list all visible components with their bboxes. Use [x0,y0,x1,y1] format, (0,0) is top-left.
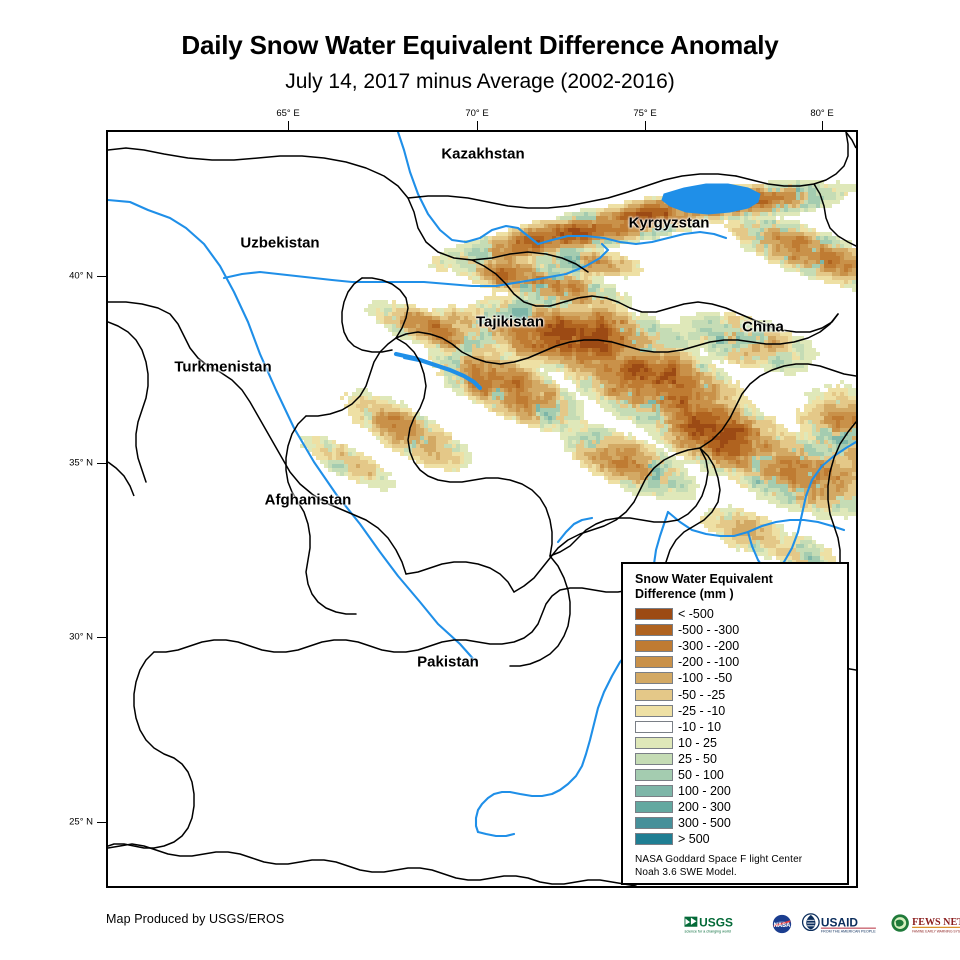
usgs-logo: USGS science for a changing world [682,913,764,935]
swe-anomaly-raster [300,180,856,592]
legend-row: 100 - 200 [635,783,839,799]
legend-box: Snow Water Equivalent Difference (mm ) <… [621,562,849,885]
legend-row: 300 - 500 [635,815,839,831]
country-label-turkmenistan: Turkmenistan [174,359,271,376]
legend-title: Snow Water Equivalent Difference (mm ) [635,572,839,602]
legend-label: > 500 [678,832,710,846]
nasa-logo: NASA [770,913,794,935]
lat-tick-35 [97,463,106,464]
legend-row: > 500 [635,831,839,847]
legend-label: 50 - 100 [678,768,724,782]
legend-swatch [635,689,673,701]
logo-strip: USGS science for a changing world NASA U… [682,912,960,936]
lon-tick-80 [822,121,823,130]
legend-row: -25 - -10 [635,703,839,719]
legend-label: -300 - -200 [678,639,739,653]
legend-label: -500 - -300 [678,623,739,637]
legend-row: -50 - -25 [635,686,839,702]
legend-label: -200 - -100 [678,655,739,669]
fews-net-logo: FEWS NET FAMINE EARLY WARNING SYSTEMS NE… [890,913,960,935]
page-title: Daily Snow Water Equivalent Difference A… [0,30,960,61]
country-label-tajikistan: Tajikistan [476,314,544,331]
legend-label: 200 - 300 [678,800,731,814]
lon-tick-65 [288,121,289,130]
legend-label: -10 - 10 [678,720,721,734]
legend-swatch [635,769,673,781]
legend-credit-line1: NASA Goddard Space F light Center [635,854,839,867]
legend-label: 100 - 200 [678,784,731,798]
legend-credit: NASA Goddard Space F light Center Noah 3… [635,854,839,879]
legend-row: -200 - -100 [635,654,839,670]
lon-label-75: 75° E [633,108,656,119]
legend-swatch [635,817,673,829]
country-label-china: China [742,319,784,336]
lat-tick-30 [97,637,106,638]
legend-row: -300 - -200 [635,638,839,654]
legend-row: -100 - -50 [635,670,839,686]
legend-swatch [635,624,673,636]
legend-row: 50 - 100 [635,767,839,783]
legend-swatch [635,753,673,765]
legend-swatch [635,833,673,845]
legend-swatch [635,672,673,684]
country-label-afghanistan: Afghanistan [265,492,352,509]
legend-swatch [635,801,673,813]
lat-label-30: 30° N [69,632,93,643]
map-page: Daily Snow Water Equivalent Difference A… [0,0,960,960]
legend-row: 200 - 300 [635,799,839,815]
legend-row: < -500 [635,606,839,622]
lon-label-70: 70° E [465,108,488,119]
legend-swatch [635,705,673,717]
legend-label: 25 - 50 [678,752,717,766]
legend-label: -25 - -10 [678,704,725,718]
legend-row: 10 - 25 [635,735,839,751]
legend-title-line2: Difference (mm ) [635,587,839,602]
legend-swatch [635,785,673,797]
country-label-kyrgyzstan: Kyrgyzstan [629,215,710,232]
country-label-pakistan: Pakistan [417,654,479,671]
lat-label-40: 40° N [69,271,93,282]
legend-swatch [635,608,673,620]
legend-label: 300 - 500 [678,816,731,830]
legend-label: < -500 [678,607,714,621]
legend-label: -50 - -25 [678,688,725,702]
lon-label-65: 65° E [276,108,299,119]
country-label-uzbekistan: Uzbekistan [240,235,319,252]
legend-credit-line2: Noah 3.6 SWE Model. [635,867,839,880]
legend-label: 10 - 25 [678,736,717,750]
lon-tick-70 [477,121,478,130]
legend-swatch [635,721,673,733]
legend-label: -100 - -50 [678,671,732,685]
legend-title-line1: Snow Water Equivalent [635,572,839,587]
usaid-logo: USAID FROM THE AMERICAN PEOPLE [800,913,884,935]
lat-tick-40 [97,276,106,277]
lat-label-35: 35° N [69,458,93,469]
legend-row: -500 - -300 [635,622,839,638]
legend-swatch [635,640,673,652]
lat-tick-25 [97,822,106,823]
legend-swatch [635,656,673,668]
page-subtitle: July 14, 2017 minus Average (2002-2016) [0,70,960,94]
legend-swatch [635,737,673,749]
lon-tick-75 [645,121,646,130]
legend-row: -10 - 10 [635,719,839,735]
legend-class-list: < -500-500 - -300-300 - -200-200 - -100-… [635,606,839,847]
produced-by-text: Map Produced by USGS/EROS [106,912,284,926]
legend-row: 25 - 50 [635,751,839,767]
country-label-kazakhstan: Kazakhstan [441,146,524,163]
lat-label-25: 25° N [69,817,93,828]
lon-label-80: 80° E [810,108,833,119]
